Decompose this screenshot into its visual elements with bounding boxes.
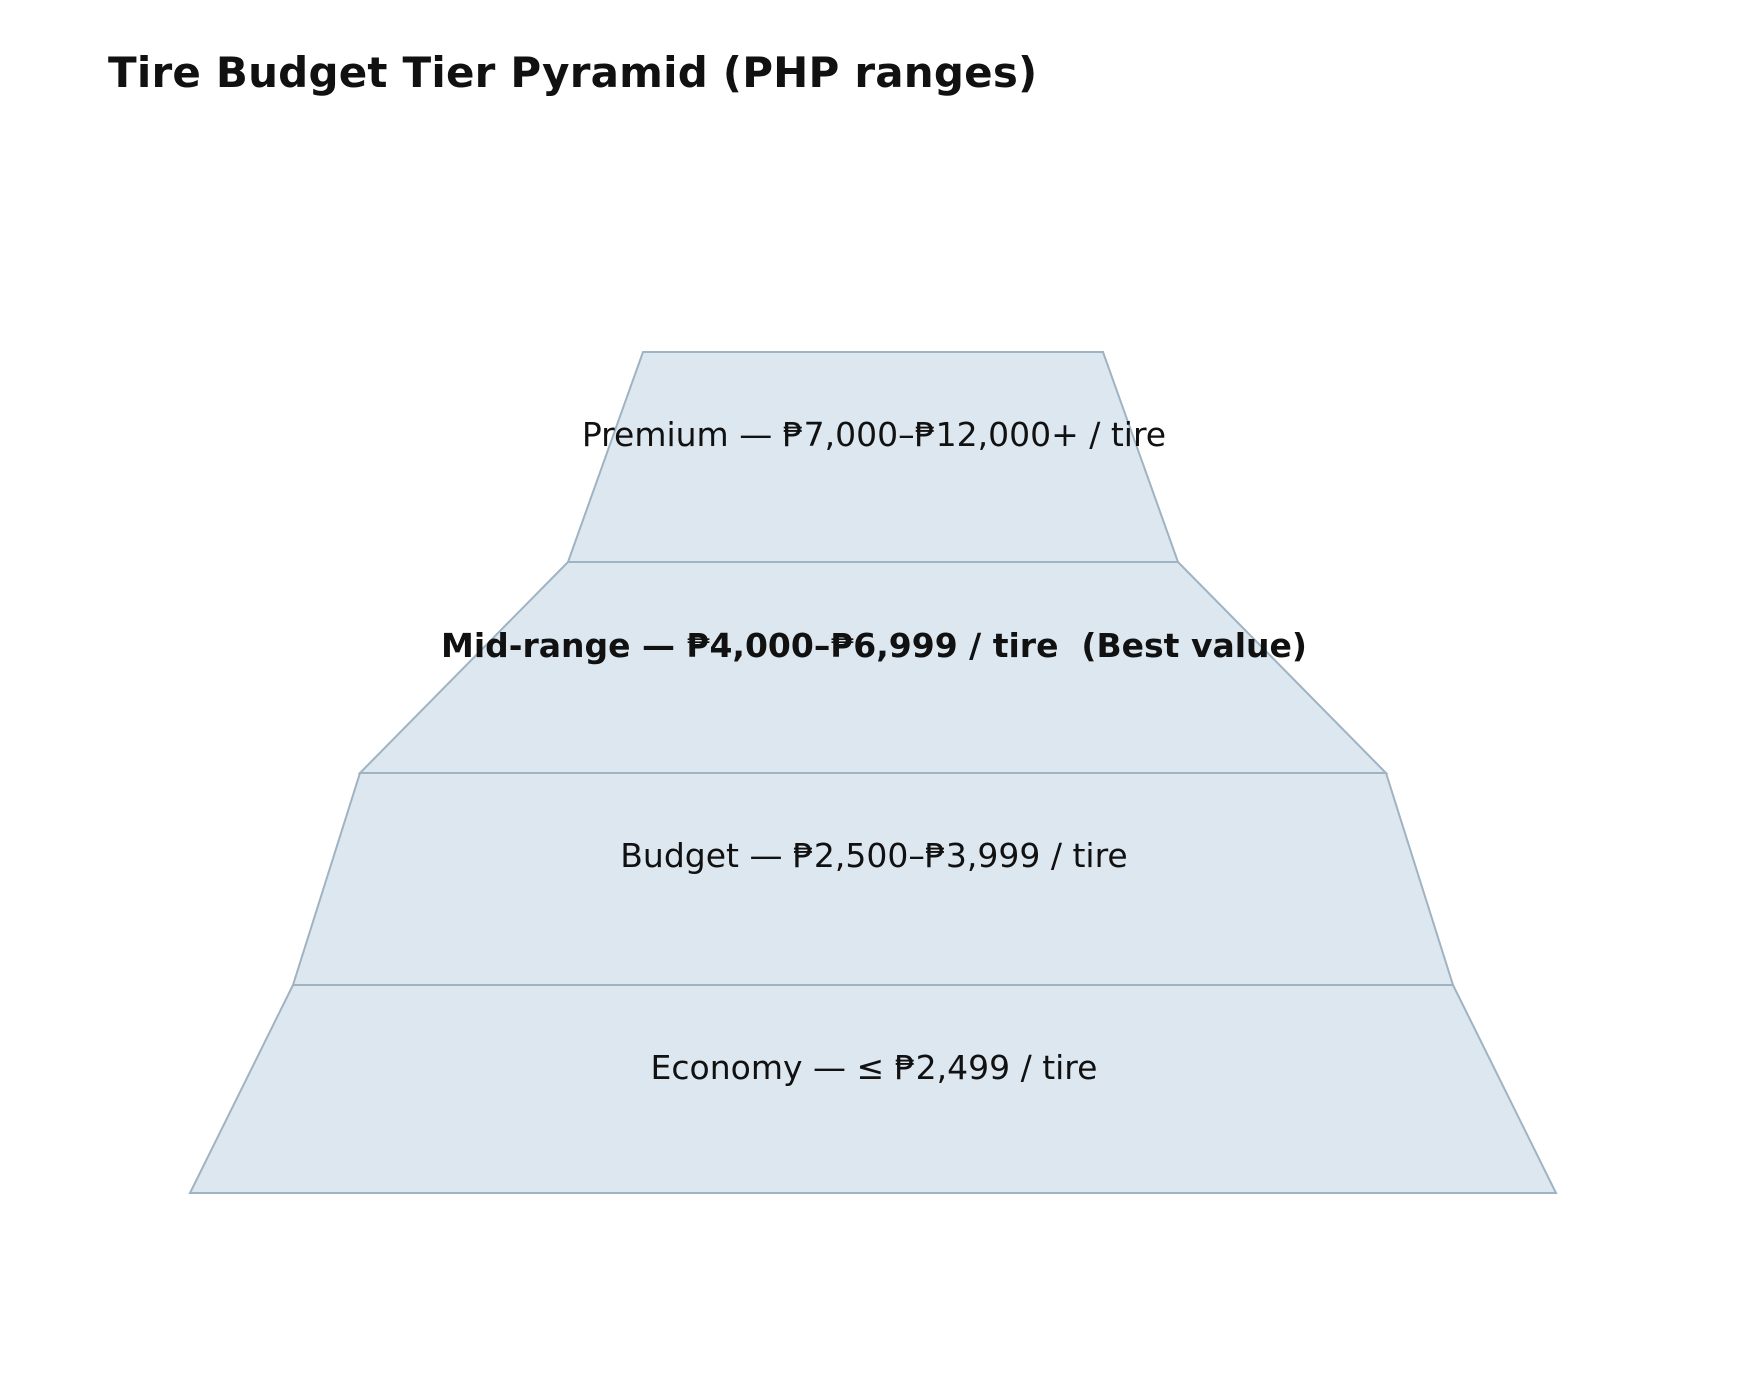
tier-label-premium: Premium — ₱7,000–₱12,000+ / tire [0, 418, 1748, 451]
tier-label-budget: Budget — ₱2,500–₱3,999 / tire [0, 839, 1748, 872]
pyramid-tier-economy[interactable] [190, 985, 1556, 1193]
pyramid-tier-mid-range[interactable] [360, 562, 1386, 773]
pyramid-tier-premium[interactable] [568, 352, 1178, 562]
pyramid-tier-budget[interactable] [293, 773, 1453, 985]
tier-label-economy: Economy — ≤ ₱2,499 / tire [0, 1051, 1748, 1084]
pyramid-figure: Tire Budget Tier Pyramid (PHP ranges) Pr… [0, 0, 1748, 1399]
pyramid-shape-group [0, 0, 1748, 1399]
tier-label-mid-range: Mid-range — ₱4,000–₱6,999 / tire (Best v… [0, 629, 1748, 662]
